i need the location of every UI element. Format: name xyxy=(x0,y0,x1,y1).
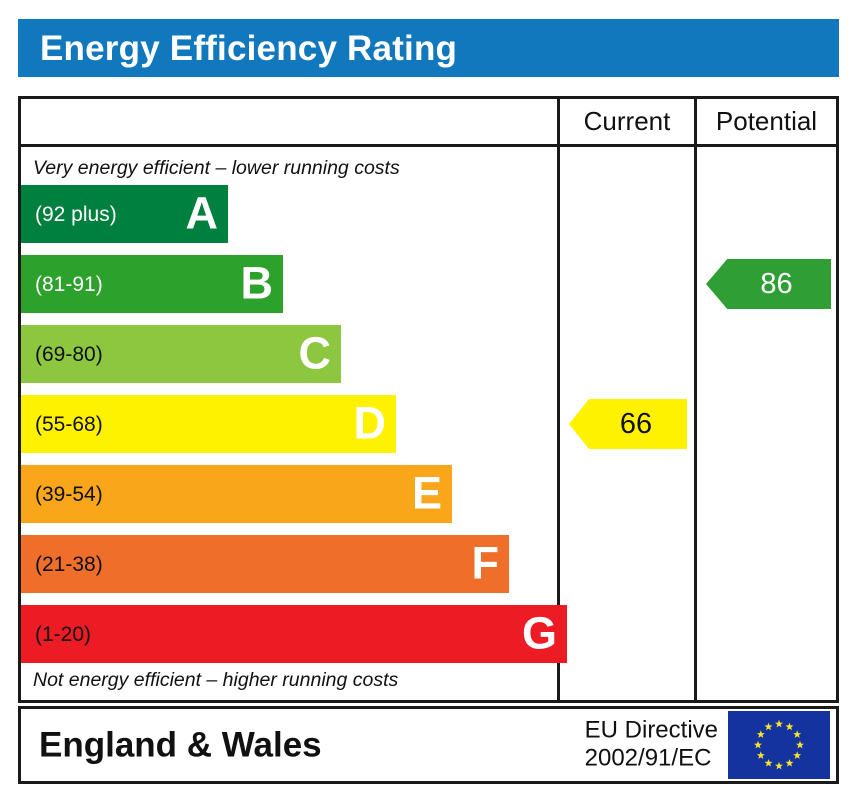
band-scale: Very energy efficient – lower running co… xyxy=(21,147,557,700)
band-e-range: (39-54) xyxy=(21,484,103,505)
band-g: (1-20)G xyxy=(21,605,567,663)
band-c: (69-80)C xyxy=(21,325,341,383)
footer-directive: EU Directive 2002/91/EC xyxy=(585,717,718,774)
column-header-potential-label: Potential xyxy=(716,106,817,137)
band-a: (92 plus)A xyxy=(21,185,228,243)
energy-efficiency-certificate: Energy Efficiency Rating Current Potenti… xyxy=(0,0,857,803)
caption-inefficient: Not energy efficient – higher running co… xyxy=(33,669,398,692)
certificate-footer: England & Wales EU Directive 2002/91/EC xyxy=(18,706,839,784)
band-d-range: (55-68) xyxy=(21,414,103,435)
potential-rating-value: 86 xyxy=(760,270,792,299)
band-e-letter: E xyxy=(412,471,442,516)
band-f: (21-38)F xyxy=(21,535,509,593)
footer-region-label: England & Wales xyxy=(39,728,322,763)
page-title: Energy Efficiency Rating xyxy=(18,31,457,66)
potential-rating-arrow: 86 xyxy=(706,259,831,309)
band-d-letter: D xyxy=(354,401,387,446)
band-b-letter: B xyxy=(241,261,274,306)
band-f-range: (21-38) xyxy=(21,554,103,575)
eu-flag-stars xyxy=(728,711,830,779)
band-f-letter: F xyxy=(472,541,500,586)
band-a-range: (92 plus) xyxy=(21,204,117,225)
current-rating-value: 66 xyxy=(620,410,652,439)
band-b-range: (81-91) xyxy=(21,274,103,295)
chart-title-banner: Energy Efficiency Rating xyxy=(18,19,839,77)
footer-directive-line1: EU Directive xyxy=(585,717,718,745)
band-g-range: (1-20) xyxy=(21,624,91,645)
caption-efficient: Very energy efficient – lower running co… xyxy=(33,157,400,180)
band-c-letter: C xyxy=(299,331,332,376)
rating-table: Current Potential Very energy efficient … xyxy=(18,96,839,703)
footer-directive-line2: 2002/91/EC xyxy=(585,745,718,773)
band-b: (81-91)B xyxy=(21,255,283,313)
eu-flag-icon xyxy=(728,711,830,779)
current-rating-arrow: 66 xyxy=(569,399,687,449)
band-a-letter: A xyxy=(186,191,219,236)
column-divider-potential xyxy=(694,147,697,700)
table-header-row: Current Potential xyxy=(21,99,836,147)
column-header-potential: Potential xyxy=(694,99,836,144)
column-header-current-label: Current xyxy=(584,106,671,137)
band-c-range: (69-80) xyxy=(21,344,103,365)
column-header-current: Current xyxy=(557,99,694,144)
band-g-letter: G xyxy=(522,611,557,656)
band-d: (55-68)D xyxy=(21,395,396,453)
band-e: (39-54)E xyxy=(21,465,452,523)
